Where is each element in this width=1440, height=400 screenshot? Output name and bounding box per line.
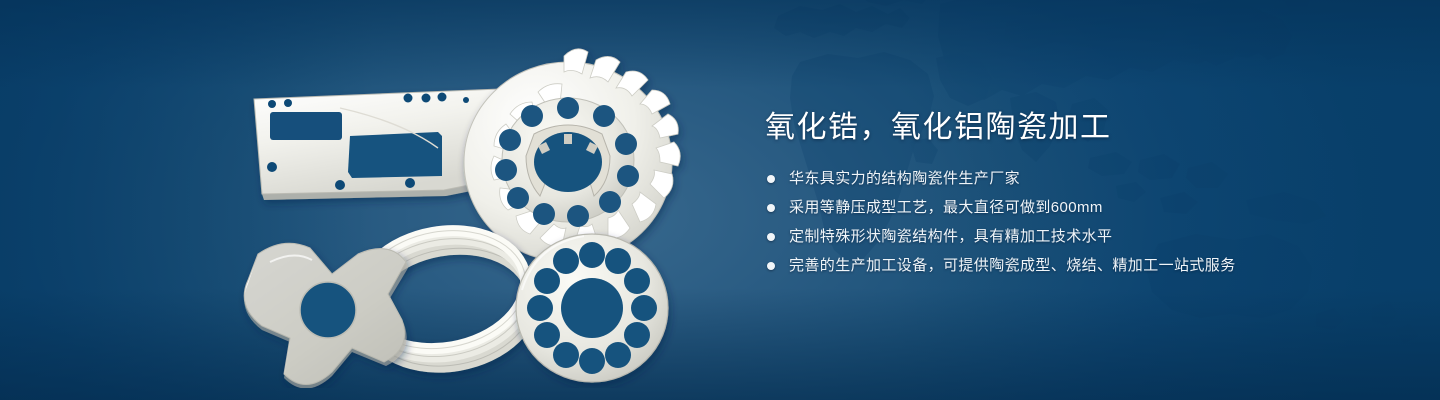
banner-headline: 氧化锆，氧化铝陶瓷加工	[765, 108, 1385, 148]
bullet-dot-icon	[767, 204, 775, 212]
list-item: 采用等静压成型工艺，最大直径可做到600mm	[767, 197, 1385, 219]
bullet-dot-icon	[767, 175, 775, 183]
product-photo-group	[232, 44, 692, 388]
list-item: 完善的生产加工设备，可提供陶瓷成型、烧结、精加工一站式服务	[767, 255, 1385, 277]
list-item: 华东具实力的结构陶瓷件生产厂家	[767, 168, 1385, 190]
list-item: 定制特殊形状陶瓷结构件，具有精加工技术水平	[767, 226, 1385, 248]
bullet-dot-icon	[767, 262, 775, 270]
ceramic-impeller-part	[464, 49, 680, 262]
promo-banner: 氧化锆，氧化铝陶瓷加工 华东具实力的结构陶瓷件生产厂家 采用等静压成型工艺，最大…	[0, 0, 1440, 400]
bullet-dot-icon	[767, 233, 775, 241]
feature-text: 完善的生产加工设备，可提供陶瓷成型、烧结、精加工一站式服务	[789, 256, 1236, 276]
feature-text: 定制特殊形状陶瓷结构件，具有精加工技术水平	[789, 227, 1112, 247]
feature-text: 采用等静压成型工艺，最大直径可做到600mm	[789, 198, 1103, 218]
ceramic-hole-disc-part	[516, 234, 668, 382]
feature-text: 华东具实力的结构陶瓷件生产厂家	[789, 169, 1020, 189]
banner-feature-list: 华东具实力的结构陶瓷件生产厂家 采用等静压成型工艺，最大直径可做到600mm 定…	[767, 168, 1385, 277]
ceramic-cross-part	[244, 243, 408, 388]
banner-copy: 氧化锆，氧化铝陶瓷加工 华东具实力的结构陶瓷件生产厂家 采用等静压成型工艺，最大…	[765, 108, 1385, 284]
